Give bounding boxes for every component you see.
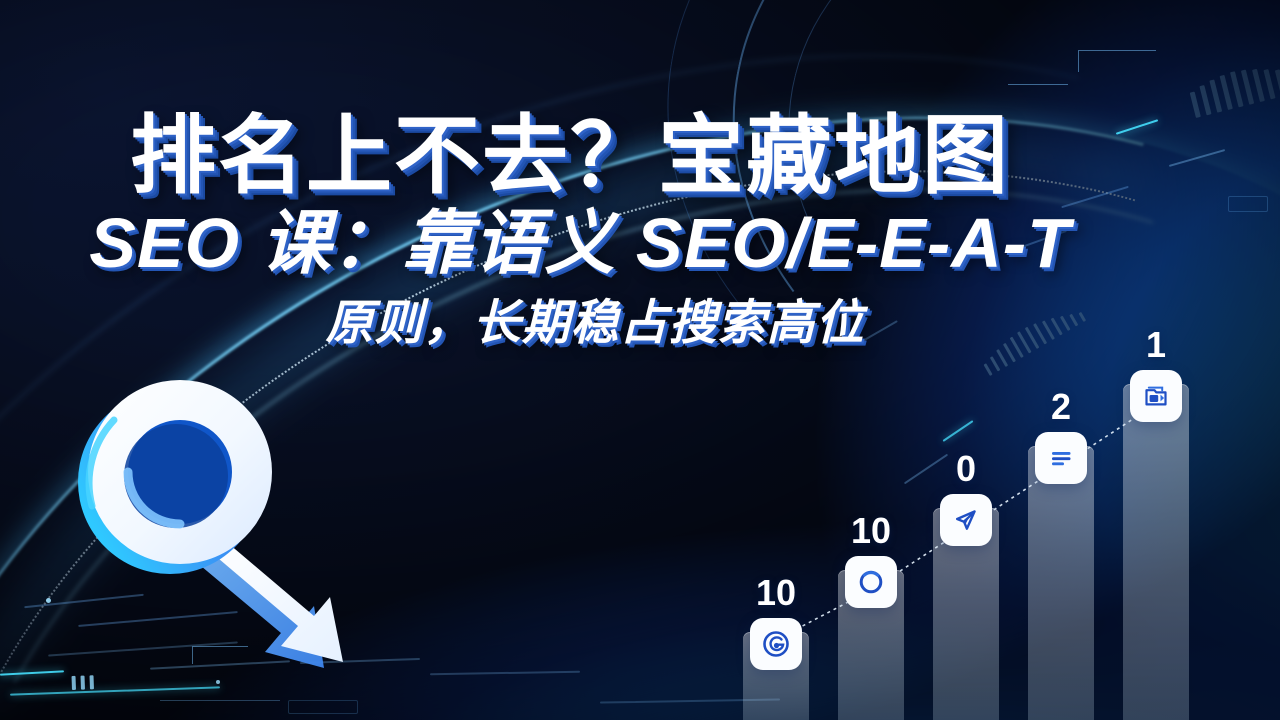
bar-value-label: 10: [838, 510, 904, 552]
bar-group: [735, 300, 1280, 720]
paper-plane-icon: [940, 494, 992, 546]
table-row: [1028, 446, 1094, 720]
magnifying-glass-icon: [62, 378, 412, 678]
bar-value-label: 2: [1028, 386, 1094, 428]
table-row: [1123, 384, 1189, 720]
cover-canvas: 排名上不去？宝藏地图 SEO 课：靠语义 SEO/E-E-A-T 原则，长期稳占…: [0, 0, 1280, 720]
spiral-circle-icon: [750, 618, 802, 670]
text-lines-icon: [1035, 432, 1087, 484]
ring-icon: [845, 556, 897, 608]
folder-edit-icon: [1130, 370, 1182, 422]
bar-value-label: 0: [933, 448, 999, 490]
bar-chart: 10 10 0 2 1: [735, 300, 1280, 720]
bar-value-label: 10: [743, 572, 809, 614]
bar-value-label: 1: [1123, 324, 1189, 366]
